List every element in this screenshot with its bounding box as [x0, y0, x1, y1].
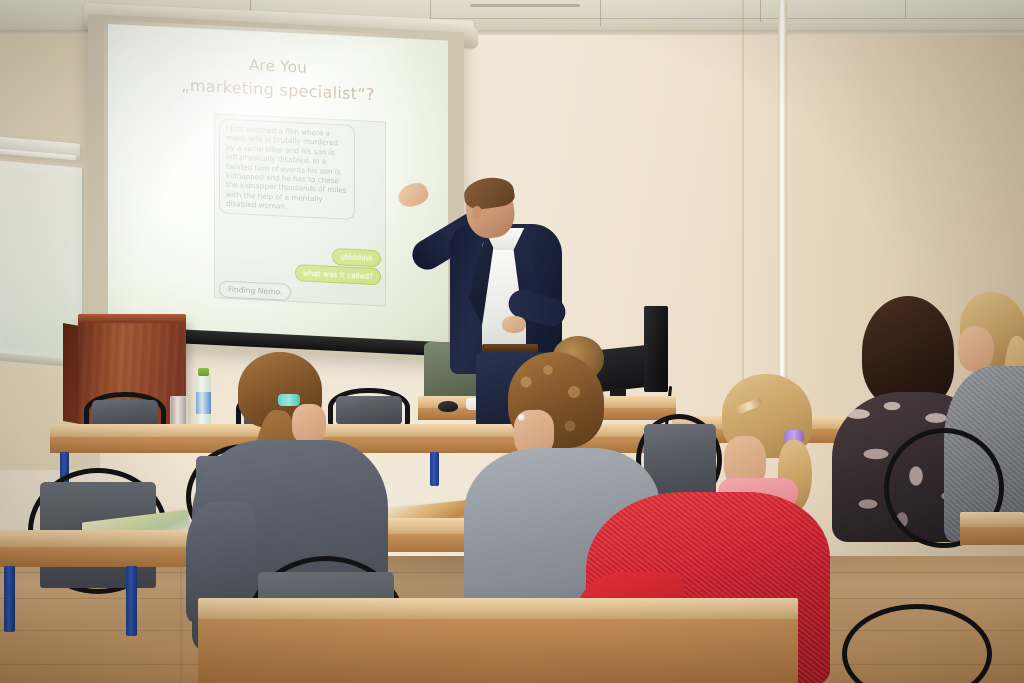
lectern-top-edge [78, 314, 186, 323]
presenter-hip-hand [502, 316, 526, 333]
student-face [958, 326, 994, 372]
desk-leg [126, 566, 137, 636]
desk-front-row-top [198, 598, 798, 620]
hair-tie [278, 394, 300, 406]
desk-right-front-front [960, 527, 1024, 545]
desk-front-row-front [198, 619, 798, 683]
roller-end-cap [462, 26, 478, 49]
chat-outgoing-bubble-1: uhhhhhh [332, 248, 381, 267]
slide-chat-screenshot: I just watched a film where a mans wife … [214, 113, 386, 306]
classroom-scene: Are You „marketing specialist“? I just w… [0, 0, 1024, 683]
desk-leg [430, 452, 439, 486]
drinking-glass[interactable] [170, 396, 188, 426]
projection-screen-surface: Are You „marketing specialist“? I just w… [108, 24, 448, 353]
chat-incoming-message: I just watched a film where a mans wife … [219, 118, 355, 219]
slide-title: Are You „marketing specialist“? [108, 46, 448, 111]
desk-leg [4, 566, 15, 632]
chat-final-message: Finding Nemo. [219, 280, 291, 301]
presenter-ear [472, 206, 482, 219]
wall-conduit-pipe [778, 0, 787, 410]
chat-outgoing-bubble-2: what was it called? [295, 264, 381, 285]
earring-icon [518, 414, 525, 421]
desk-right-front-top [960, 512, 1024, 528]
student-neck [292, 404, 326, 444]
